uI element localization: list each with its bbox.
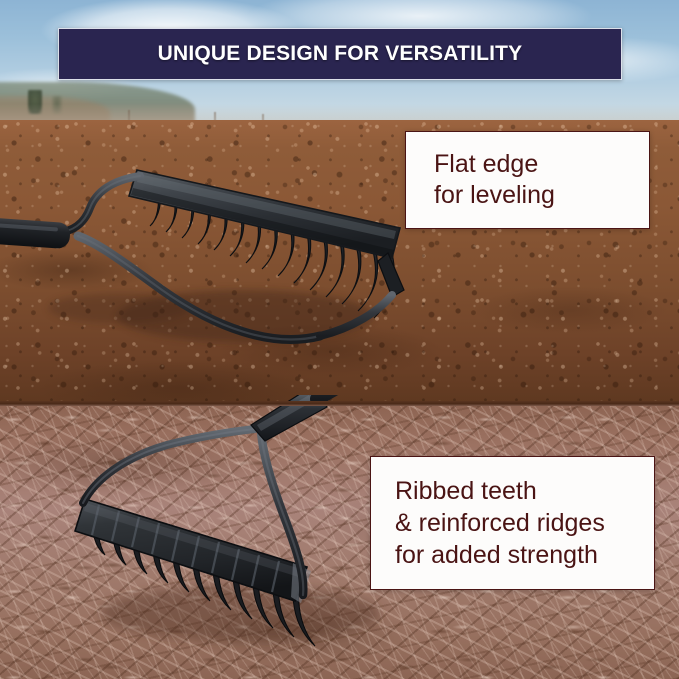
callout-line: for added strength [395, 539, 654, 571]
rake-handle-shaft [317, 395, 399, 399]
callout-line: Ribbed teeth [395, 475, 654, 507]
banner-title: UNIQUE DESIGN FOR VERSATILITY [158, 42, 523, 66]
callout-line: for leveling [434, 180, 649, 211]
rake-bow-upper-arm [58, 176, 140, 232]
callout-line: Flat edge [434, 149, 649, 180]
callout-ribbed-teeth: Ribbed teeth & reinforced ridges for add… [370, 456, 655, 590]
product-infographic: UNIQUE DESIGN FOR VERSATILITY Flat edge … [0, 0, 679, 679]
rake-end-cap [378, 253, 404, 297]
rake-bow-left-arm [83, 429, 255, 503]
bow-rake-tool-top [0, 140, 420, 370]
header-banner: UNIQUE DESIGN FOR VERSATILITY [58, 28, 622, 80]
callout-line: & reinforced ridges [395, 507, 654, 539]
rake-handle-grip [0, 217, 71, 249]
callout-flat-edge: Flat edge for leveling [405, 131, 650, 229]
bow-rake-tool-bottom [55, 395, 405, 665]
panel-divider [0, 401, 679, 406]
